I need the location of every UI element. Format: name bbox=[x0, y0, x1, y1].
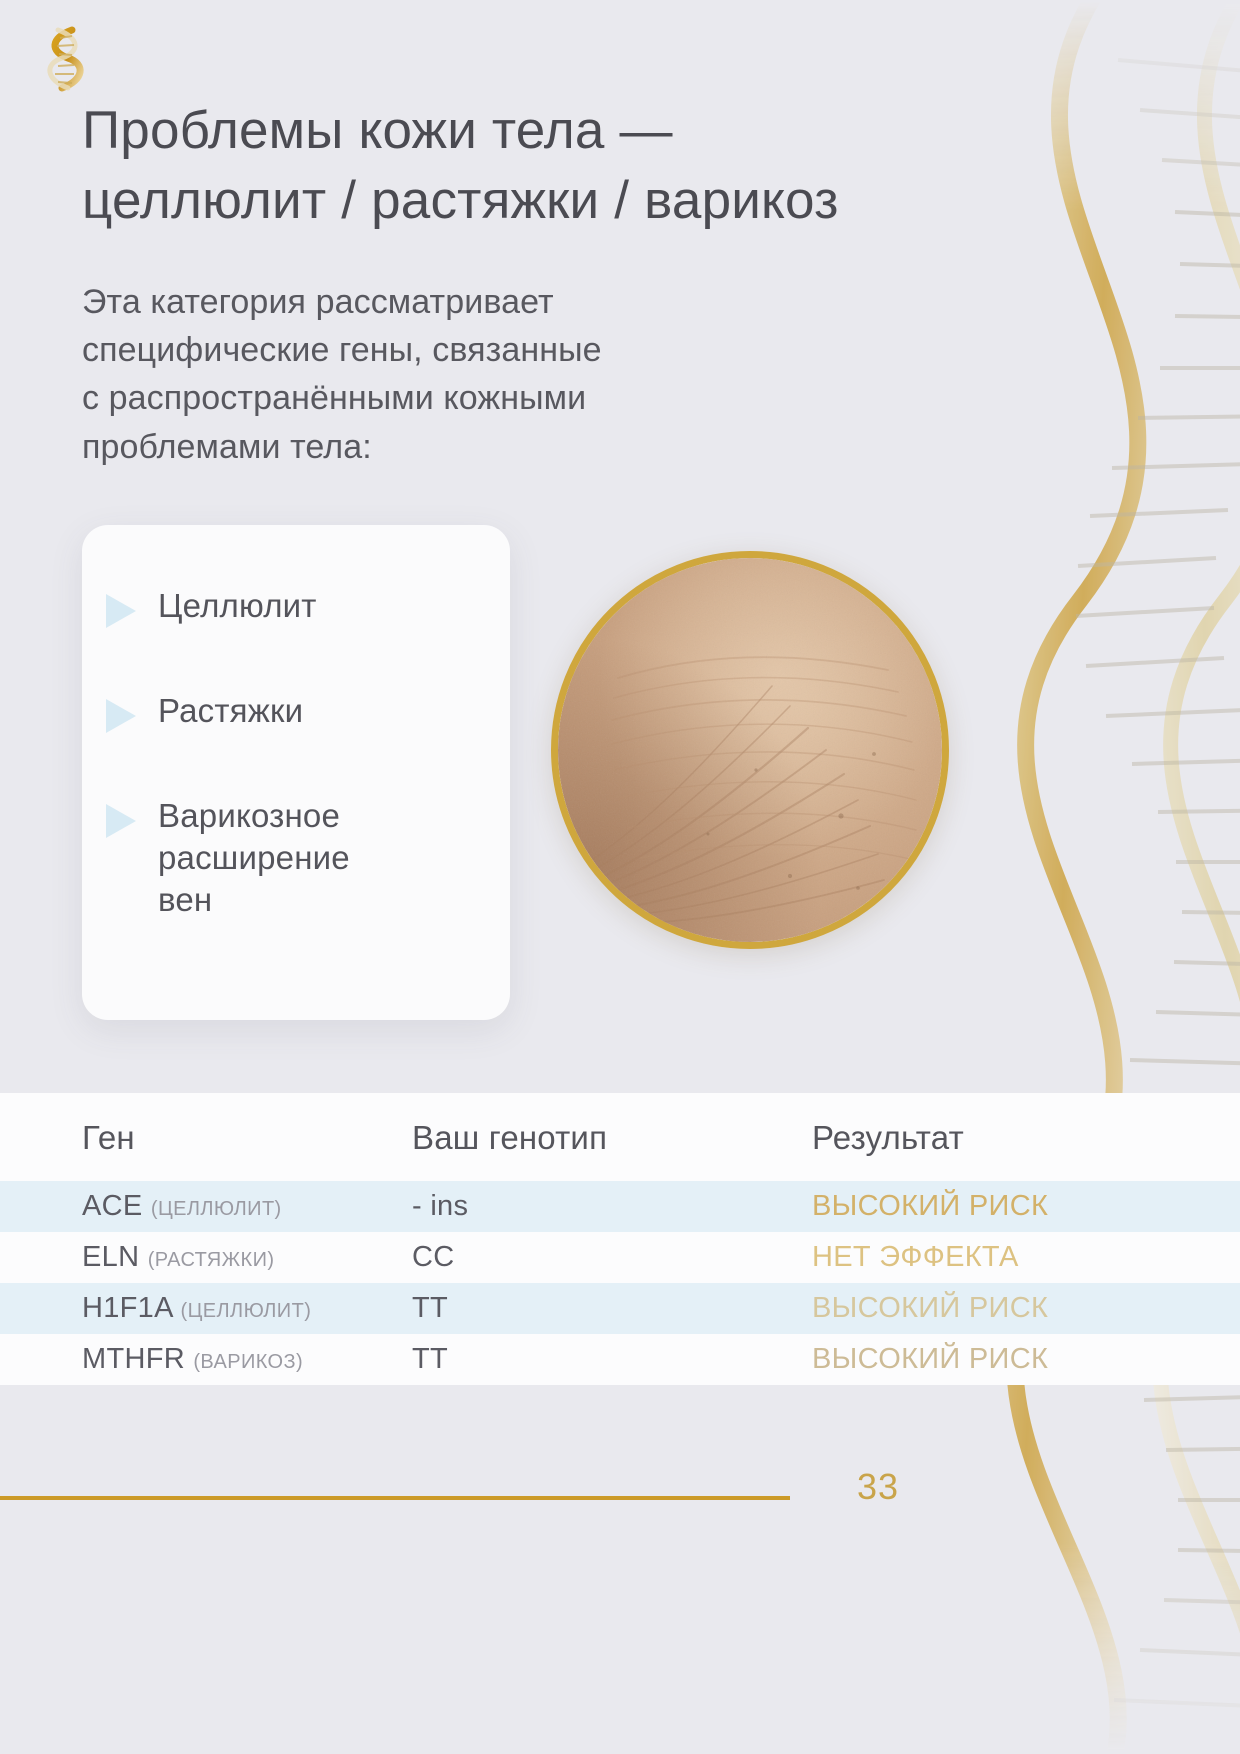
list-item-label: Варикозное расширение вен bbox=[158, 795, 350, 922]
gene-name: MTHFR bbox=[82, 1343, 185, 1375]
genetics-table: Ген Ваш генотип Результат ACE (ЦЕЛЛЮЛИТ)… bbox=[0, 1093, 1240, 1385]
skin-closeup-photo bbox=[551, 551, 949, 949]
header-block: Проблемы кожи тела — целлюлит / растяжки… bbox=[82, 96, 982, 471]
gene-tag: (ВАРИКОЗ) bbox=[193, 1351, 303, 1373]
list-item: Варикозное расширение вен bbox=[106, 795, 510, 922]
gene-tag: (ЦЕЛЛЮЛИТ) bbox=[151, 1198, 282, 1220]
genetics-table-band: Ген Ваш генотип Результат ACE (ЦЕЛЛЮЛИТ)… bbox=[0, 1093, 1240, 1355]
table-body: ACE (ЦЕЛЛЮЛИТ) - ins ВЫСОКИЙ РИСК ELN (Р… bbox=[0, 1181, 1240, 1385]
dna-helix-icon bbox=[34, 22, 94, 94]
page-number: 33 bbox=[818, 1466, 938, 1508]
column-header-gene: Ген bbox=[0, 1093, 412, 1181]
table-row: MTHFR (ВАРИКОЗ) TT ВЫСОКИЙ РИСК bbox=[0, 1334, 1240, 1385]
cell-result: ВЫСОКИЙ РИСК bbox=[812, 1181, 1240, 1232]
list-item: Растяжки bbox=[106, 690, 510, 733]
gene-name: ACE bbox=[82, 1190, 143, 1222]
triangle-right-icon bbox=[106, 594, 136, 628]
page-title: Проблемы кожи тела — целлюлит / растяжки… bbox=[82, 96, 982, 236]
cell-gene: MTHFR (ВАРИКОЗ) bbox=[0, 1334, 412, 1385]
table-row: ELN (РАСТЯЖКИ) CC НЕТ ЭФФЕКТА bbox=[0, 1232, 1240, 1283]
gene-tag: (РАСТЯЖКИ) bbox=[148, 1249, 275, 1271]
gene-name: ELN bbox=[82, 1241, 139, 1273]
gene-tag: (ЦЕЛЛЮЛИТ) bbox=[181, 1300, 312, 1322]
list-item-label: Растяжки bbox=[158, 690, 303, 732]
conditions-card: Целлюлит Растяжки Варикозное расширение … bbox=[82, 525, 510, 1020]
table-row: H1F1A (ЦЕЛЛЮЛИТ) TT ВЫСОКИЙ РИСК bbox=[0, 1283, 1240, 1334]
triangle-right-icon bbox=[106, 699, 136, 733]
cell-gene: ELN (РАСТЯЖКИ) bbox=[0, 1232, 412, 1283]
cell-gene: H1F1A (ЦЕЛЛЮЛИТ) bbox=[0, 1283, 412, 1334]
gene-name: H1F1A bbox=[82, 1292, 172, 1324]
column-header-result: Результат bbox=[812, 1093, 1240, 1181]
table-header-row: Ген Ваш генотип Результат bbox=[0, 1093, 1240, 1181]
cell-result: ВЫСОКИЙ РИСК bbox=[812, 1334, 1240, 1385]
cell-gene: ACE (ЦЕЛЛЮЛИТ) bbox=[0, 1181, 412, 1232]
page-intro-text: Эта категория рассматривает специфически… bbox=[82, 278, 982, 471]
list-item: Целлюлит bbox=[106, 585, 510, 628]
photo-image bbox=[558, 558, 942, 942]
cell-genotype: TT bbox=[412, 1283, 812, 1334]
conditions-list: Целлюлит Растяжки Варикозное расширение … bbox=[82, 525, 510, 922]
footer-rule bbox=[0, 1496, 790, 1500]
column-header-genotype: Ваш генотип bbox=[412, 1093, 812, 1181]
cell-genotype: TT bbox=[412, 1334, 812, 1385]
triangle-right-icon bbox=[106, 804, 136, 838]
table-row: ACE (ЦЕЛЛЮЛИТ) - ins ВЫСОКИЙ РИСК bbox=[0, 1181, 1240, 1232]
cell-result: НЕТ ЭФФЕКТА bbox=[812, 1232, 1240, 1283]
cell-genotype: CC bbox=[412, 1232, 812, 1283]
cell-result: ВЫСОКИЙ РИСК bbox=[812, 1283, 1240, 1334]
cell-genotype: - ins bbox=[412, 1181, 812, 1232]
list-item-label: Целлюлит bbox=[158, 585, 317, 627]
